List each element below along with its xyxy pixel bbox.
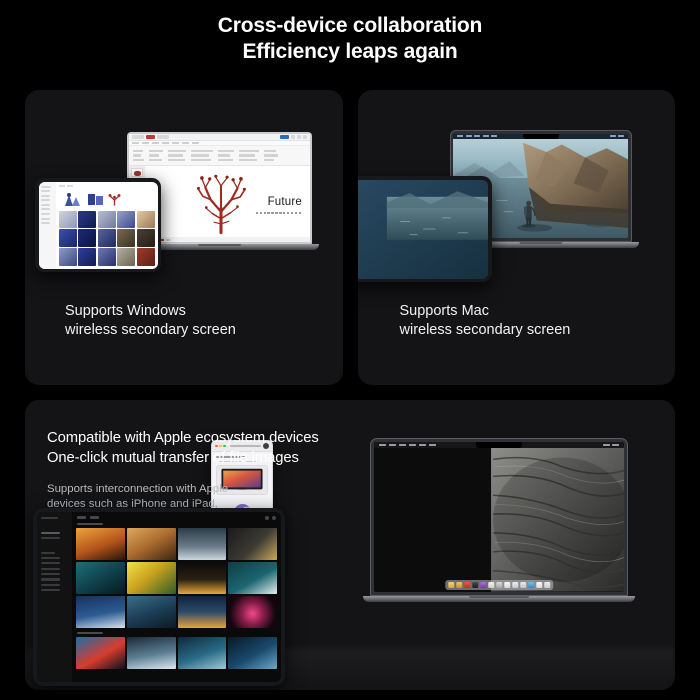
menubar-status-items[interactable] — [610, 135, 624, 137]
control-center-icon[interactable] — [603, 444, 610, 446]
menubar-item[interactable] — [474, 135, 480, 137]
card-mac[interactable]: Supports Macwireless secondary screen — [358, 90, 676, 385]
toolbar-tab-months[interactable] — [90, 516, 99, 518]
minimize-icon[interactable] — [291, 135, 295, 139]
caption-line-1: Supports Windows — [65, 303, 186, 319]
dock-icon-pages[interactable] — [504, 582, 511, 589]
coral-illustration — [195, 173, 247, 235]
photo-thumbnail[interactable] — [76, 528, 125, 560]
toolbar-item[interactable] — [67, 185, 73, 187]
photo-thumbnail[interactable] — [127, 596, 176, 628]
grid-thumbnail[interactable] — [98, 229, 116, 246]
sidebar-item-favorites[interactable] — [41, 573, 60, 575]
tablet-device — [33, 508, 285, 686]
app-titlebar — [129, 134, 310, 141]
dock-icon-terminal[interactable] — [472, 582, 479, 589]
photo-thumbnail[interactable] — [76, 637, 125, 669]
ribbon-group — [168, 150, 186, 162]
tablet-device — [35, 178, 161, 272]
sidebar-item[interactable] — [41, 199, 50, 201]
caption-line-2: wireless secondary screen — [65, 322, 236, 338]
status-item — [166, 239, 170, 241]
dock-icon-mail[interactable] — [464, 582, 471, 589]
display-notch — [476, 442, 522, 448]
photo-thumbnail[interactable] — [228, 637, 277, 669]
macbook-device — [370, 438, 628, 602]
sidebar-item[interactable] — [41, 195, 50, 197]
card-caption: Supports Macwireless secondary screen — [400, 302, 571, 340]
dock-icon-podcasts[interactable] — [480, 582, 487, 589]
grid-thumbnail[interactable] — [137, 248, 155, 265]
heading-line-1: Compatible with Apple ecosystem devices — [47, 430, 319, 446]
ribbon-group — [133, 150, 144, 162]
ribbon-toolbar[interactable] — [129, 146, 310, 166]
laptop-base — [363, 596, 635, 602]
photos-sidebar[interactable] — [37, 512, 72, 682]
menubar-item[interactable] — [419, 444, 426, 446]
photo-thumbnail[interactable] — [228, 528, 277, 560]
laptop-lid — [370, 438, 628, 596]
menubar-item[interactable] — [389, 444, 396, 446]
dock-icon-trash[interactable] — [544, 582, 551, 589]
grid-thumbnail[interactable] — [78, 211, 96, 228]
grid-thumbnail[interactable] — [117, 211, 135, 228]
grid-thumbnail[interactable] — [59, 248, 77, 265]
sidebar-item[interactable] — [41, 213, 50, 215]
ribbon-group — [239, 150, 259, 162]
bottom-card-heading: Compatible with Apple ecosystem devicesO… — [47, 428, 387, 468]
toolbar-actions[interactable] — [265, 516, 276, 520]
sidebar-item-for-you[interactable] — [41, 537, 60, 539]
ribbon-tab-item[interactable] — [132, 142, 139, 144]
photo-thumbnail[interactable] — [178, 562, 227, 594]
app-sidebar[interactable] — [39, 182, 56, 269]
grid-thumbnail[interactable] — [117, 229, 135, 246]
card-apple-ecosystem[interactable]: Compatible with Apple ecosystem devicesO… — [25, 400, 675, 690]
tablet-device — [358, 176, 492, 282]
grid-thumbnail[interactable] — [98, 248, 116, 265]
ribbon-tab-item[interactable] — [142, 142, 149, 144]
photo-thumbnail[interactable] — [127, 528, 176, 560]
dock-icon-notes[interactable] — [536, 582, 543, 589]
card-caption: Supports Windowswireless secondary scree… — [65, 302, 236, 340]
tablet-content — [56, 182, 158, 269]
photo-thumbnail[interactable] — [76, 562, 125, 594]
slide-text-right: Future — [268, 196, 302, 208]
red-coral-icon — [108, 193, 121, 206]
photos-content — [72, 512, 281, 682]
more-icon[interactable] — [272, 516, 276, 520]
titlebar-tab-icon — [132, 135, 144, 139]
tablet-toolbar[interactable] — [59, 185, 155, 189]
page-title-line-2: Efficiency leaps again — [242, 40, 457, 63]
sidebar-item[interactable] — [41, 204, 50, 206]
ribbon-tab-item[interactable] — [162, 142, 169, 144]
sidebar-item-albums[interactable] — [41, 557, 60, 559]
search-icon[interactable] — [265, 516, 269, 520]
clock-label[interactable] — [618, 135, 624, 137]
ribbon-group — [264, 150, 278, 162]
card-grid: nts — [25, 90, 675, 690]
wifi-icon[interactable] — [610, 135, 616, 137]
slide-canvas[interactable]: nts — [145, 166, 310, 242]
sidebar-item[interactable] — [41, 208, 50, 210]
top-card-row: nts — [25, 90, 675, 385]
photos-toolbar[interactable] — [72, 512, 281, 523]
dock-icon-settings[interactable] — [496, 582, 503, 589]
photo-thumbnail[interactable] — [228, 562, 277, 594]
dock-icon-numbers[interactable] — [488, 582, 495, 589]
menubar-item[interactable] — [409, 444, 416, 446]
tablet-screen — [358, 180, 489, 279]
titlebar-app-icon — [146, 135, 155, 139]
sidebar-item-videos[interactable] — [41, 584, 60, 586]
tablet-screen — [39, 182, 158, 269]
gallery-section-label — [77, 523, 103, 525]
photo-thumbnail[interactable] — [178, 637, 227, 669]
page-header: Cross-device collaborationEfficiency lea… — [0, 0, 700, 65]
gallery-section-label — [77, 632, 103, 634]
titlebar-actions — [280, 135, 307, 139]
close-icon[interactable] — [303, 135, 307, 139]
toolbar-tab-years[interactable] — [77, 516, 86, 518]
dock-icon-launchpad[interactable] — [456, 582, 463, 589]
blue-sculpture-icon — [62, 192, 84, 207]
page-title: Cross-device collaborationEfficiency lea… — [0, 13, 700, 65]
menubar-item[interactable] — [491, 135, 497, 137]
status-bar — [145, 237, 310, 242]
blue-block-icon — [87, 192, 105, 206]
sidebar-item-library[interactable] — [41, 532, 60, 534]
grid-thumbnail[interactable] — [137, 229, 155, 246]
sidebar-title — [41, 517, 58, 519]
photo-grid[interactable] — [72, 528, 281, 628]
macos-dock[interactable] — [445, 580, 553, 590]
dock-icon-finder-blue[interactable] — [528, 582, 535, 589]
sidebar-item-places[interactable] — [41, 568, 60, 570]
menubar-item[interactable] — [466, 135, 472, 137]
heading-line-2: One-click mutual transfer of file images — [47, 450, 299, 466]
ribbon-tab-item[interactable] — [172, 142, 179, 144]
dock-icon-keynote[interactable] — [512, 582, 519, 589]
sidebar-item[interactable] — [41, 218, 50, 220]
sidebar-item[interactable] — [41, 186, 51, 188]
sidebar-item[interactable] — [41, 222, 50, 224]
page-title-line-1: Cross-device collaboration — [218, 14, 482, 37]
titlebar-tab-icon — [157, 135, 169, 139]
photo-thumbnail[interactable] — [178, 596, 227, 628]
ribbon-tab-item[interactable] — [182, 142, 189, 144]
tablet-screen — [37, 512, 281, 682]
photo-thumbnail[interactable] — [178, 528, 227, 560]
photo-thumbnail[interactable] — [228, 596, 277, 628]
dock-icon-finder[interactable] — [448, 582, 455, 589]
slide-thumbnail[interactable] — [131, 168, 143, 177]
dock-icon-preview[interactable] — [520, 582, 527, 589]
tablet-wallpaper — [358, 180, 489, 279]
grid-thumbnail[interactable] — [59, 229, 77, 246]
toolbar-item[interactable] — [59, 185, 65, 187]
thumbnail-grid[interactable] — [59, 211, 155, 266]
grid-thumbnail[interactable] — [78, 248, 96, 265]
share-button-icon[interactable] — [280, 135, 289, 139]
sidebar-item-selfies[interactable] — [41, 589, 60, 591]
clock-label[interactable] — [612, 444, 619, 446]
photo-thumbnail[interactable] — [127, 562, 176, 594]
ribbon-group — [218, 150, 234, 162]
sidebar-item[interactable] — [41, 190, 50, 192]
ribbon-tab-item[interactable] — [192, 142, 199, 144]
menubar-item[interactable] — [429, 444, 436, 446]
macbook-screen — [374, 442, 624, 592]
caption-line-2: wireless secondary screen — [400, 322, 571, 338]
maximize-icon[interactable] — [297, 135, 301, 139]
grid-thumbnail[interactable] — [117, 248, 135, 265]
ribbon-group — [149, 150, 163, 162]
grid-thumbnail[interactable] — [98, 211, 116, 228]
ribbon-tab-item[interactable] — [152, 142, 159, 144]
ribbon-group — [191, 150, 213, 162]
apple-menu-icon[interactable] — [457, 135, 463, 137]
rock-wallpaper — [374, 448, 624, 592]
sidebar-item-recents[interactable] — [41, 578, 60, 580]
caption-line-1: Supports Mac — [400, 303, 489, 319]
display-notch — [523, 134, 559, 140]
menubar-item[interactable] — [483, 135, 489, 137]
hero-graphics — [59, 191, 155, 208]
menubar-item[interactable] — [399, 444, 406, 446]
photo-thumbnail[interactable] — [76, 596, 125, 628]
card-windows[interactable]: nts — [25, 90, 343, 385]
grid-thumbnail[interactable] — [78, 229, 96, 246]
slide-subtitle — [256, 212, 301, 214]
grid-thumbnail[interactable] — [137, 211, 155, 228]
sidebar-section-label — [41, 552, 55, 554]
photo-grid[interactable] — [72, 637, 281, 669]
grid-thumbnail[interactable] — [59, 211, 77, 228]
sidebar-item-people[interactable] — [41, 562, 60, 564]
menubar-status-items[interactable] — [603, 444, 620, 446]
photo-thumbnail[interactable] — [127, 637, 176, 669]
